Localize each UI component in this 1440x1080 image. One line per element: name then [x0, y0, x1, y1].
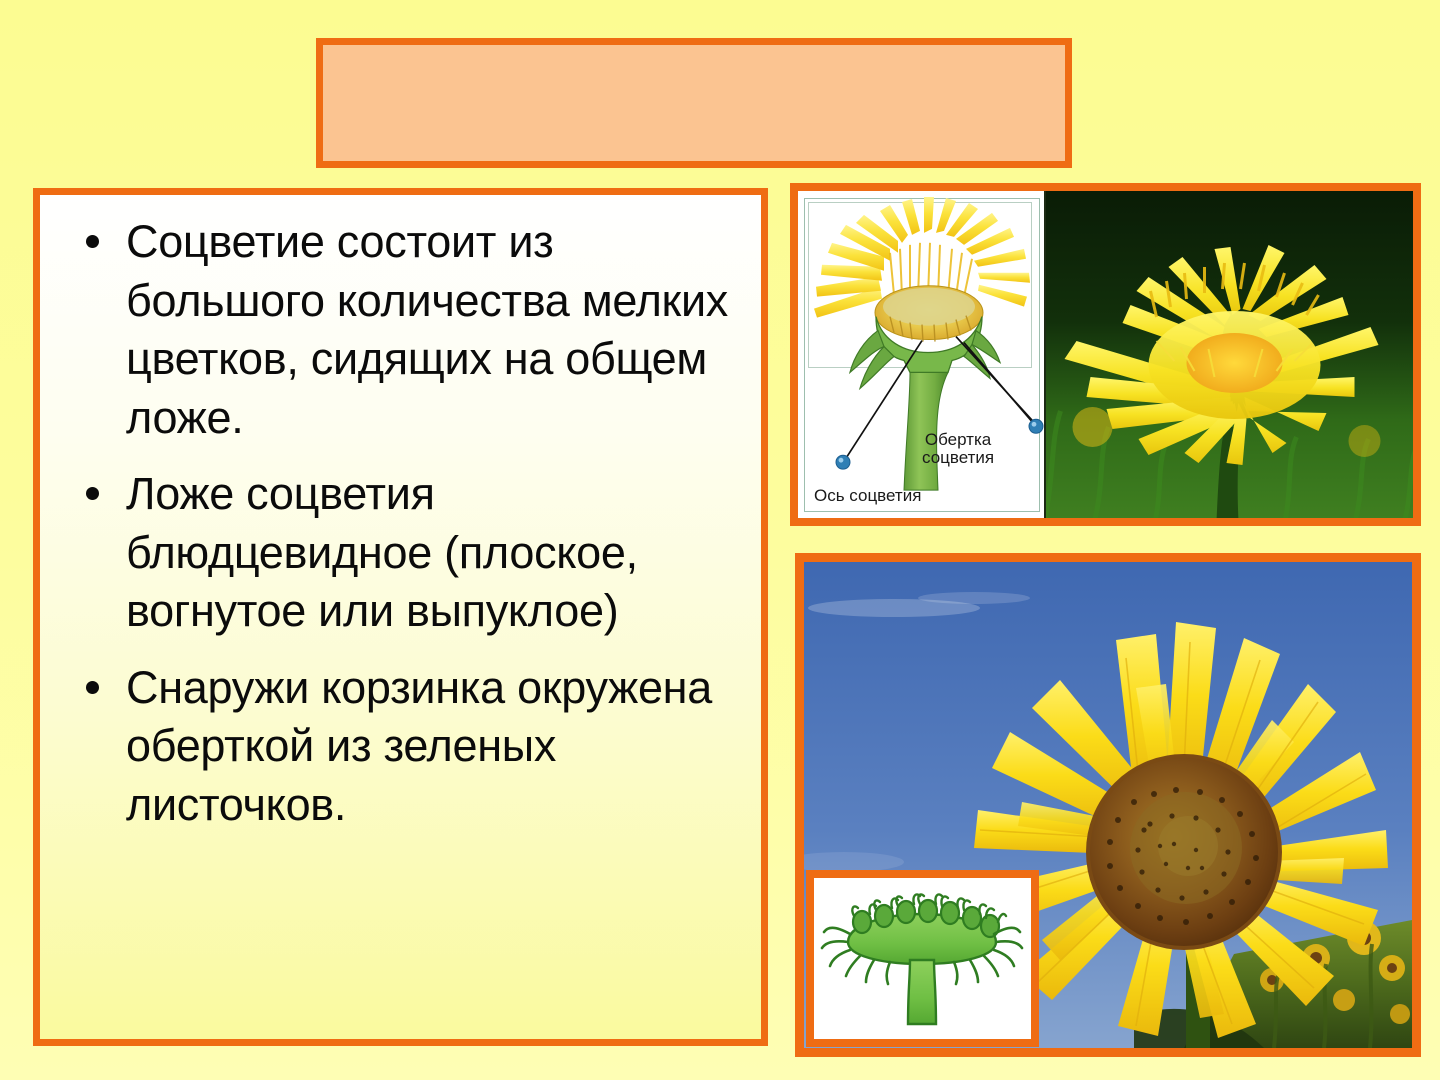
- sunflower-image-panel[interactable]: [795, 553, 1421, 1057]
- label-axis: Ось соцветия: [814, 487, 921, 505]
- bullet-dot-icon: [86, 235, 99, 248]
- dandelion-photo: [1044, 191, 1413, 518]
- dandelion-image-panel[interactable]: Обертка соцветия Ось соцветия: [790, 183, 1421, 526]
- bullet-text: Соцветие состоит из большого количества …: [126, 216, 728, 443]
- bullet-dot-icon: [86, 487, 99, 500]
- bullet-list: Соцветие состоит из большого количества …: [58, 213, 745, 834]
- content-text-panel[interactable]: Соцветие состоит из большого количества …: [33, 188, 768, 1046]
- list-item: Снаружи корзинка окружена оберткой из зе…: [58, 659, 745, 835]
- receptacle-scheme-illustration: [814, 878, 1031, 1039]
- dandelion-cutaway-illustration: [798, 191, 1044, 518]
- receptacle-scheme-inset[interactable]: [806, 870, 1039, 1047]
- dandelion-diagram: Обертка соцветия Ось соцветия: [798, 191, 1044, 518]
- dandelion-photo-illustration: [1046, 191, 1413, 518]
- bullet-text: Ложе соцветия блюдцевидное (плоское, вог…: [126, 468, 638, 636]
- bullet-dot-icon: [86, 681, 99, 694]
- title-placeholder-box[interactable]: [316, 38, 1072, 168]
- page-title: [323, 45, 1065, 161]
- list-item: Ложе соцветия блюдцевидное (плоское, вог…: [58, 465, 745, 641]
- label-involucre: Обертка соцветия: [922, 431, 994, 468]
- bullet-text: Снаружи корзинка окружена оберткой из зе…: [126, 662, 712, 830]
- list-item: Соцветие состоит из большого количества …: [58, 213, 745, 447]
